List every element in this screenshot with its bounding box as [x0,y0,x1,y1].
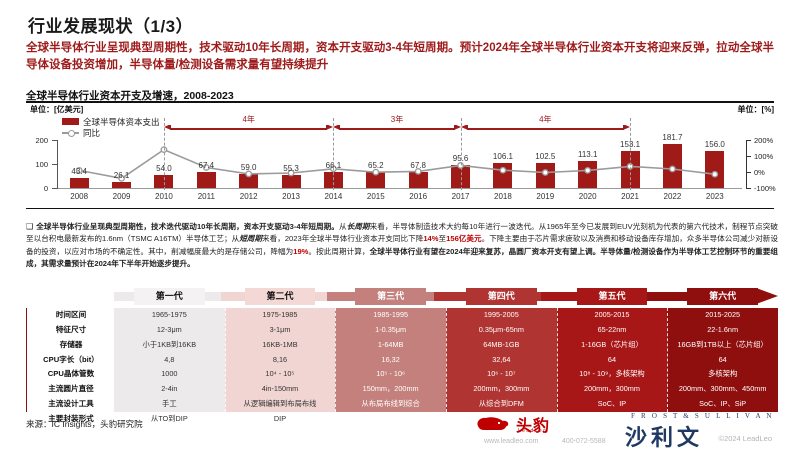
chart-x-label: 2012 [229,192,269,201]
generation-cell: 1975-1985 [225,308,336,323]
chart-bar-value-label: 102.5 [525,152,565,161]
generation-cell: 3-1μm [225,323,336,338]
cycle-divider [461,118,462,190]
chart-bar-value-label: 55.3 [271,164,311,173]
secondary-y-tick [746,156,751,157]
chart-top-rule [26,101,774,103]
leadleo-website[interactable]: www.leadleo.com [484,438,538,445]
generations-row-label: 存储器 [27,338,115,353]
generation-chip-4[interactable]: 第四代 [466,288,537,305]
chart-bar-value-label: 43.4 [59,167,99,176]
chart-x-label: 2009 [102,192,142,201]
generation-column-6[interactable]: 2015-202522-1.6nm16GB到1TB以上（芯片组）64多核架构20… [667,308,778,412]
generation-cell: 手工 [114,397,225,412]
lion-head-icon [472,414,512,434]
arrow-head-icon [756,288,778,304]
generations-row-label: 主流设计工具 [27,397,115,412]
generation-cell: 16,32 [335,353,446,368]
secondary-y-tick [746,140,751,141]
generation-cell: 1-16GB（芯片组） [557,338,668,353]
chart-x-label: 2019 [525,192,565,201]
generation-cell: 10⁵ - 10⁶ [335,367,446,382]
cycle-label-3: 4年 [461,114,631,125]
y-tick-label: 100 [22,160,48,169]
generations-row-label: 时间区间 [27,308,115,323]
generations-table: 第一代第二代第三代第四代第五代第六代 时间区间特征尺寸存储器CPU字长（bit）… [26,288,778,412]
span-line [467,128,625,130]
generation-cell: 64 [667,353,778,368]
generation-cell: 16KB-1MB [225,338,336,353]
generation-cell: 1995-2005 [446,308,557,323]
chart-x-label: 2016 [398,192,438,201]
generation-cell: 200mm，300mm [446,382,557,397]
chart-bar-value-label: 26.1 [102,171,142,180]
legend-line-marker-icon [62,129,79,136]
span-line [339,128,454,130]
generation-cell: 22-1.6nm [667,323,778,338]
generation-cell: 2015-2025 [667,308,778,323]
frost-sullivan-english: F R O S T & S U L L I V A N [631,412,774,420]
analysis-highlight-19pct: 19% [293,247,308,256]
generation-cell: 从综合到DFM [446,397,557,412]
legend-item-capex: 全球半导体资本支出 [62,116,160,127]
leadleo-sub: LeadLeo [518,428,547,434]
generation-cell: 0.35μm-65nm [446,323,557,338]
cycle-label-1: 4年 [164,114,334,125]
y-tick [52,164,58,165]
column-divider [225,308,226,412]
arrow-right-icon [623,124,630,130]
chart-x-label: 2021 [610,192,650,201]
generations-row-label: CPU晶体管数 [27,367,115,382]
chart-bottom-rule [26,208,774,209]
chart-x-label: 2018 [483,192,523,201]
secondary-y-tick-label: 100% [754,152,773,161]
chart-x-label: 2015 [356,192,396,201]
column-divider [557,308,558,412]
y-tick-label: 0 [22,184,48,193]
generation-cell: 10⁶ - 10⁷ [446,367,557,382]
generation-cell: 64MB-1GB [446,338,557,353]
cycle-label-2: 3年 [333,114,460,125]
legend-label-yoy: 同比 [83,127,100,139]
bullet-icon: ❑ [26,222,33,231]
generations-grid: 时间区间特征尺寸存储器CPU字长（bit）CPU晶体管数主流圆片直径主流设计工具… [26,308,778,412]
cycle-divider [164,118,165,190]
generation-column-2[interactable]: 1975-19853-1μm16KB-1MB8,1610⁴ - 10⁵4in-1… [225,308,336,412]
generation-cell: SoC、IP、SiP [667,397,778,412]
generation-cell: 16GB到1TB以上（芯片组） [667,338,778,353]
generation-cell: SoC、IP [557,397,668,412]
generation-column-1[interactable]: 1965-197512-3μm小于1KB到16KB4,810002-4in手工从… [114,308,225,412]
analysis-text-a: 从 [339,222,347,231]
secondary-y-tick-label: 0% [754,168,765,177]
chart-bar-value-label: 106.1 [483,152,523,161]
generation-chip-2[interactable]: 第二代 [245,288,316,305]
generation-cell: DIP [225,412,336,427]
generation-cell: 多核架构 [667,367,778,382]
cycle-annotation-3: 4年 [461,122,631,134]
generation-cell: 200mm、300mm、450mm [667,382,778,397]
generations-row-label: 特征尺寸 [27,323,115,338]
cycle-divider [333,118,334,190]
chart-x-label: 2008 [59,192,99,201]
chart-bar-value-label: 67.4 [186,161,226,170]
cycle-divider [630,118,631,190]
analysis-text-d: 至 [439,234,447,243]
generation-cell: 200mm，300mm [557,382,668,397]
analysis-highlight-14pct: 14% [423,234,438,243]
secondary-y-tick [746,188,751,189]
arrow-right-icon [326,124,333,130]
generation-cell: 2005-2015 [557,308,668,323]
leadleo-logo: 头豹 LeadLeo www.leadleo.com 400-072-5588 [470,412,600,446]
analysis-text-f: 。按此周期计算， [308,247,369,256]
chart-x-label: 2017 [441,192,481,201]
legend-item-yoy: 同比 [62,127,160,138]
arrow-shaft [114,292,754,301]
generation-cell: 150mm，200mm [335,382,446,397]
generation-cell: 1000 [114,367,225,382]
generation-cell: 4in-150mm [225,382,336,397]
chart-legend: 全球半导体资本支出 同比 [62,116,160,138]
source-note: 来源：IC Insights，头豹研究院 [26,418,143,430]
y-tick [52,188,58,189]
chart-x-label: 2010 [144,192,184,201]
generation-chip-3[interactable]: 第三代 [355,288,426,305]
generation-cell: 10⁸ - 10⁹，多核架构 [557,367,668,382]
cycle-annotation-1: 4年 [164,122,334,134]
secondary-y-tick [746,172,751,173]
chart-x-label: 2013 [271,192,311,201]
generation-chip-1[interactable]: 第一代 [134,288,205,305]
frost-sullivan-logo: F R O S T & S U L L I V A N 沙利文 [625,412,775,446]
column-divider [335,308,336,412]
chart-bar-value-label: 156.0 [695,140,735,149]
legend-bar-swatch-icon [62,118,79,125]
chart-x-label: 2011 [186,192,226,201]
chart-bar-value-label: 67.8 [398,161,438,170]
generation-cell: 1-0.35μm [335,323,446,338]
analysis-highlight-156: 156亿美元 [446,234,481,243]
chart-bar-value-label: 113.1 [568,150,608,159]
generation-cell: 1985-1995 [335,308,446,323]
generation-cell: 8,16 [225,353,336,368]
generation-cell: 1965-1975 [114,308,225,323]
generation-cell: 1-64MB [335,338,446,353]
chart-x-label: 2014 [313,192,353,201]
span-line [170,128,328,130]
generation-cell: 32,64 [446,353,557,368]
lead-paragraph: 全球半导体行业呈现典型周期性，技术驱动10年长周期，资本开支驱动3-4年短周期。… [26,40,774,74]
generation-cell: 4,8 [114,353,225,368]
generation-cell: 10⁴ - 10⁵ [225,367,336,382]
generation-cell: 64 [557,353,668,368]
analysis-em-short-cycle: 短周期 [239,234,262,243]
generation-chip-6[interactable]: 第六代 [687,288,758,305]
frost-sullivan-chinese: 沙利文 [625,420,703,452]
generation-cell: 从布局布线到综合 [335,397,446,412]
secondary-y-tick-label: 200% [754,136,773,145]
column-divider [667,308,668,412]
generation-cell: 从DIP到QFP [335,412,446,427]
chart-x-label: 2022 [652,192,692,201]
chart-unit-right: 单位：[%] [738,104,774,115]
chart-x-label: 2020 [568,192,608,201]
generation-cell: 小于1KB到16KB [114,338,225,353]
generations-row-label: CPU字长（bit） [27,353,115,368]
chart-bar-value-label: 65.2 [356,161,396,170]
generations-row-labels: 时间区间特征尺寸存储器CPU字长（bit）CPU晶体管数主流圆片直径主流设计工具… [26,308,115,412]
page-title: 行业发展现状（1/3） [28,12,193,37]
generation-cell: 从逻辑编辑到布局布线 [225,397,336,412]
y-tick-label: 200 [22,136,48,145]
chart-secondary-y-axis [746,140,747,188]
leadleo-phone: 400-072-5588 [562,438,606,445]
y-tick [52,140,58,141]
cycle-annotation-2: 3年 [333,122,460,134]
generation-chip-5[interactable]: 第五代 [577,288,648,305]
analysis-text-c: 来看，2023年全球半导体行业资本开支同比下降 [262,234,423,243]
analysis-lead-bold: 全球半导体行业呈现典型周期性，技术迭代驱动10年长周期，资本开支驱动3-4年短周… [36,222,339,231]
chart-unit-left: 单位：[亿美元] [30,104,83,115]
analysis-em-long-cycle: 长周期 [347,222,370,231]
chart-bar-value-label: 181.7 [652,133,692,142]
generation-column-5[interactable]: 2005-201565-22nm1-16GB（芯片组）6410⁸ - 10⁹，多… [557,308,668,412]
secondary-y-tick-label: -100% [754,184,776,193]
generation-cell: 12-3μm [114,323,225,338]
column-divider [446,308,447,412]
arrow-right-icon [454,124,461,130]
generations-row-label: 主流圆片直径 [27,382,115,397]
generation-cell: 65-22nm [557,323,668,338]
chart-bar-value-label: 59.0 [229,163,269,172]
generation-timeline-arrow: 第一代第二代第三代第四代第五代第六代 [114,288,778,305]
slide-page: 行业发展现状（1/3） 全球半导体行业呈现典型周期性，技术驱动10年长周期，资本… [0,0,800,450]
generation-column-3[interactable]: 1985-19951-0.35μm1-64MB16,3210⁵ - 10⁶150… [335,308,446,412]
generation-cell: 2-4in [114,382,225,397]
chart-x-label: 2023 [695,192,735,201]
analysis-paragraph: ❑全球半导体行业呈现典型周期性，技术迭代驱动10年长周期，资本开支驱动3-4年短… [26,221,778,270]
generation-column-4[interactable]: 1995-20050.35μm-65nm64MB-1GB32,6410⁶ - 1… [446,308,557,412]
